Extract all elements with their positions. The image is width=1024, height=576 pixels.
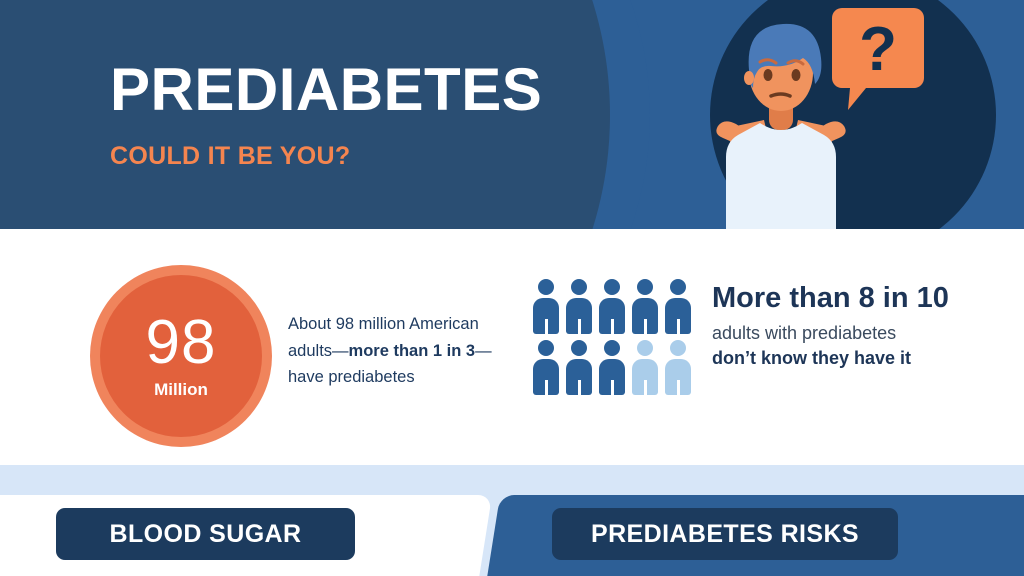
stat-circle-inner: 98 Million (100, 275, 262, 437)
right-eye (792, 69, 801, 81)
mouth (771, 94, 790, 96)
question-mark-speech-bubble: ? (832, 8, 924, 110)
person-icon (566, 279, 592, 334)
person-icon-muted (665, 340, 691, 395)
left-eye (764, 69, 773, 81)
person-icon (533, 279, 559, 334)
pictogram-caption: More than 8 in 10 adults with prediabete… (712, 282, 1012, 370)
person-icon (665, 279, 691, 334)
confused-person-illustration: ? (690, 0, 1024, 229)
shirt (726, 123, 836, 229)
footer-tab-band: BLOOD SUGAR PREDIABETES RISKS (0, 465, 1024, 576)
header-text-block: PREDIABETES COULD IT BE YOU? (110, 60, 542, 171)
page-title: PREDIABETES (110, 60, 542, 120)
person-icon (533, 340, 559, 395)
pictogram-subline-1: adults with prediabetes (712, 321, 1012, 345)
pictogram-subline-2: don’t know they have it (712, 346, 1012, 370)
stats-section: 98 Million About 98 million American adu… (0, 229, 1024, 465)
left-ear (744, 71, 754, 85)
person-icon (632, 279, 658, 334)
person-icon (566, 340, 592, 395)
person-icon-muted (632, 340, 658, 395)
stat-unit-label: Million (154, 380, 208, 400)
pictogram-row-2 (533, 340, 699, 395)
infographic-page: PREDIABETES COULD IT BE YOU? ? (0, 0, 1024, 576)
header-banner: PREDIABETES COULD IT BE YOU? ? (0, 0, 1024, 229)
pictogram-headline: More than 8 in 10 (712, 282, 1012, 314)
stat-caption-bold: more than 1 in 3 (349, 342, 476, 360)
stat-number: 98 (146, 312, 217, 374)
svg-text:?: ? (859, 15, 897, 84)
tab-blood-sugar[interactable]: BLOOD SUGAR (56, 508, 355, 560)
page-subtitle: COULD IT BE YOU? (110, 142, 542, 171)
tab-prediabetes-risks[interactable]: PREDIABETES RISKS (552, 508, 898, 560)
stat-caption: About 98 million American adults—more th… (288, 311, 500, 391)
people-pictogram (533, 279, 699, 401)
person-icon (599, 340, 625, 395)
stat-circle-98-million: 98 Million (90, 265, 272, 447)
person-icon (599, 279, 625, 334)
pictogram-row-1 (533, 279, 699, 334)
